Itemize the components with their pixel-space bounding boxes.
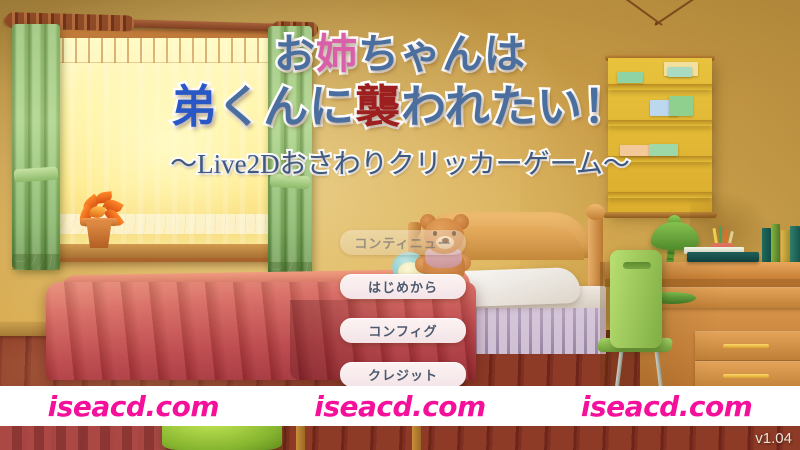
menu-item-config[interactable]: コンフィグ — [340, 318, 466, 343]
window-valance — [36, 38, 288, 63]
menu-item-new-game[interactable]: はじめから — [340, 274, 466, 299]
version-label: v1.04 — [755, 430, 792, 447]
game-title-screen: お姉ちゃんは 弟くんに襲われたい！ 〜Live2Dおさわりクリッカーゲーム〜 コ… — [0, 0, 800, 450]
organizer-note — [669, 96, 693, 116]
organizer-note — [649, 144, 678, 156]
chair-backrest-slot — [623, 262, 651, 269]
bed-post-finial — [586, 204, 605, 220]
desk-book — [687, 252, 759, 262]
curtain-tieback-right — [270, 174, 311, 190]
organizer-note — [668, 67, 692, 77]
window-lace-hem — [36, 214, 288, 234]
watermark-text: iseacd.com — [581, 390, 752, 423]
organizer-note — [617, 72, 643, 83]
main-menu: コンティニュー はじめから コンフィグ クレジット — [340, 230, 466, 406]
curtain-left — [12, 24, 60, 270]
watermark-band: iseacd.com iseacd.com iseacd.com — [0, 386, 800, 426]
menu-item-continue[interactable]: コンティニュー — [340, 230, 466, 255]
watermark-text: iseacd.com — [48, 390, 219, 423]
curtain-right — [268, 26, 312, 278]
watermark-text: iseacd.com — [314, 390, 485, 423]
organizer-note — [620, 145, 650, 156]
window-sill — [24, 244, 300, 258]
menu-item-credits[interactable]: クレジット — [340, 362, 466, 387]
organizer-hook — [655, 22, 658, 25]
